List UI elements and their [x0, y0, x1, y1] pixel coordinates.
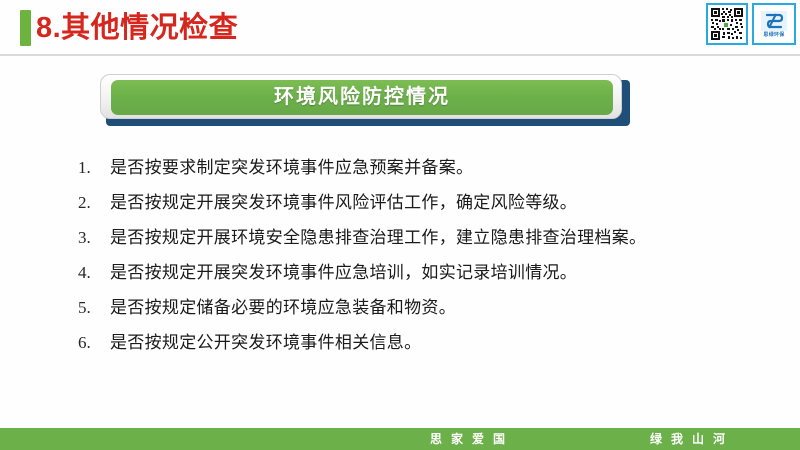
logo-group: 思绿环保 — [706, 3, 796, 45]
list-item: 1. 是否按要求制定突发环境事件应急预案并备案。 — [78, 150, 778, 185]
footer-slogan-left: 思家爱国 — [430, 428, 514, 450]
list-item-text: 是否按规定开展环境安全隐患排查治理工作，建立隐患排查治理档案。 — [110, 220, 646, 255]
slide-canvas: 8.其他情况检查 — [0, 0, 800, 450]
banner-inner: 环境风险防控情况 — [111, 80, 613, 115]
list-item-text: 是否按规定储备必要的环境应急装备和物资。 — [110, 290, 456, 325]
list-item-text: 是否按规定开展突发环境事件风险评估工作，确定风险等级。 — [110, 185, 577, 220]
brand-logo: 思绿环保 — [752, 3, 796, 45]
section-banner: 环境风险防控情况 — [100, 74, 632, 126]
page-title: 8.其他情况检查 — [36, 6, 238, 50]
list-item-number: 5. — [78, 290, 110, 325]
list-item: 4. 是否按规定开展突发环境事件应急培训，如实记录培训情况。 — [78, 255, 778, 290]
list-item: 6. 是否按规定公开突发环境事件相关信息。 — [78, 325, 778, 360]
list-item: 2. 是否按规定开展突发环境事件风险评估工作，确定风险等级。 — [78, 185, 778, 220]
list-item-number: 3. — [78, 220, 110, 255]
list-item-text: 是否按规定开展突发环境事件应急培训，如实记录培训情况。 — [110, 255, 577, 290]
list-item-text: 是否按规定公开突发环境事件相关信息。 — [110, 325, 421, 360]
list-item-number: 2. — [78, 185, 110, 220]
list-item-text: 是否按要求制定突发环境事件应急预案并备案。 — [110, 150, 473, 185]
banner-title: 环境风险防控情况 — [274, 80, 450, 115]
slide-footer: 思家爱国 绿我山河 — [0, 428, 800, 450]
checklist: 1. 是否按要求制定突发环境事件应急预案并备案。 2. 是否按规定开展突发环境事… — [78, 150, 778, 360]
title-accent-bar — [20, 10, 31, 46]
footer-slogan-right: 绿我山河 — [650, 428, 734, 450]
list-item-number: 6. — [78, 325, 110, 360]
qr-code-icon — [706, 3, 748, 45]
brand-mark-icon — [761, 11, 787, 31]
list-item: 3. 是否按规定开展环境安全隐患排查治理工作，建立隐患排查治理档案。 — [78, 220, 778, 255]
list-item-number: 1. — [78, 150, 110, 185]
brand-name: 思绿环保 — [763, 32, 784, 38]
list-item-number: 4. — [78, 255, 110, 290]
header-divider — [0, 54, 800, 56]
list-item: 5. 是否按规定储备必要的环境应急装备和物资。 — [78, 290, 778, 325]
slide-header: 8.其他情况检查 — [0, 0, 800, 56]
banner-frame: 环境风险防控情况 — [100, 74, 622, 119]
